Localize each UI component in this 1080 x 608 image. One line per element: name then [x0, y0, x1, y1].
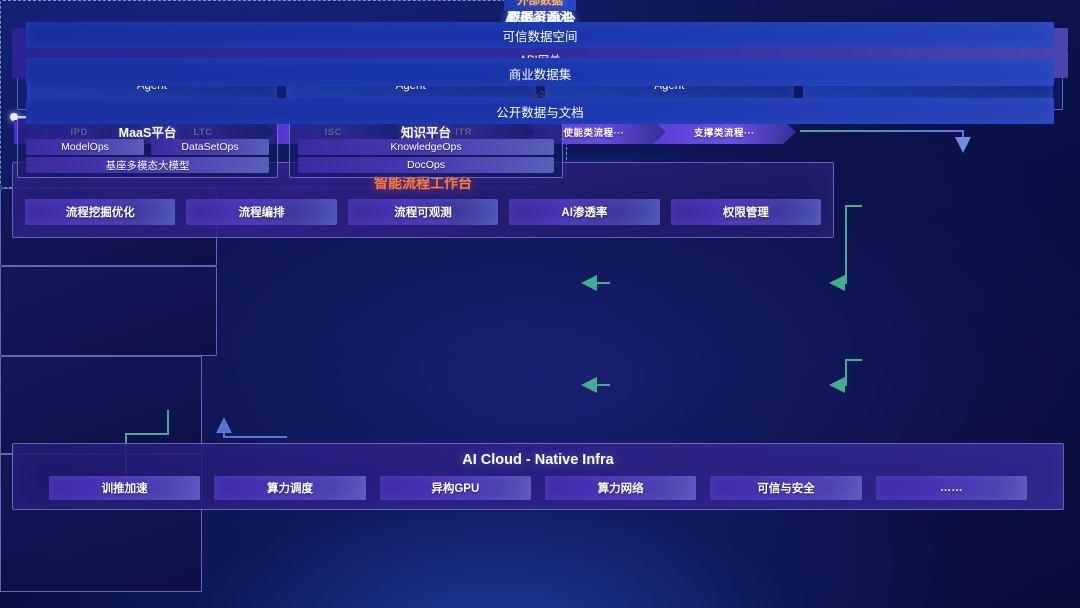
infra-item-row: 训推加速算力调度异构GPU算力网络可信与安全…… [49, 476, 1027, 500]
panel-knowledge-platform: 知识平台 KnowledgeOps DocOps [289, 118, 563, 178]
knowledge-item-r2-1[interactable]: DocOps [298, 157, 554, 173]
infra-item-6[interactable]: …… [876, 476, 1027, 500]
maas-row-2: 基座多模态大模型 [26, 157, 269, 173]
panel-ai-cloud-native-infra: AI Cloud - Native Infra 训推加速算力调度异构GPU算力网… [12, 443, 1064, 510]
external-item-public-docs[interactable]: 公开数据与文档 [26, 98, 1054, 124]
connector-process-to-legacy [800, 131, 963, 150]
infra-title: AI Cloud - Native Infra [13, 452, 1063, 468]
panel-data-resource-pool: 数据资源池 指标平台 数据资产平台 [0, 266, 217, 356]
workbench-item-5[interactable]: 权限管理 [671, 199, 821, 225]
knowledge-item-r1-1[interactable]: KnowledgeOps [298, 139, 554, 155]
infra-item-5[interactable]: 可信与安全 [710, 476, 861, 500]
external-item-commercial-dataset[interactable]: 商业数据集 [26, 60, 1054, 86]
infra-item-4[interactable]: 算力网络 [545, 476, 696, 500]
slide-canvas: AI for Process框架——AI原生的企业数智化技术参考架构 神州数码 … [0, 0, 1080, 608]
maas-row-1: ModelOpsDataSetOps [26, 139, 269, 155]
workbench-item-4[interactable]: AI渗透率 [509, 199, 659, 225]
external-title: 外部数据 [504, 0, 576, 11]
knowledge-row-2: DocOps [298, 157, 554, 173]
panel-maas-platform: MaaS平台 ModelOpsDataSetOps 基座多模态大模型 [17, 118, 278, 178]
workbench-item-3[interactable]: 流程可观测 [348, 199, 498, 225]
maas-item-r1-1[interactable]: ModelOps [26, 139, 144, 155]
knowledge-row-1: KnowledgeOps [298, 139, 554, 155]
maas-item-r2-1[interactable]: 基座多模态大模型 [26, 157, 269, 173]
connector-external-to-datapool [832, 360, 862, 385]
infra-item-3[interactable]: 异构GPU [380, 476, 531, 500]
infra-item-2[interactable]: 算力调度 [214, 476, 365, 500]
connector-infra-to-agent [224, 420, 287, 437]
maas-item-r1-2[interactable]: DataSetOps [151, 139, 269, 155]
panel-legacy-applications: 传统应用 ERP/CRM/OA … … [0, 356, 202, 454]
connector-legacy-to-servicepool [832, 206, 862, 283]
workbench-item-1[interactable]: 流程挖掘优化 [25, 199, 175, 225]
workbench-item-2[interactable]: 流程编排 [186, 199, 336, 225]
infra-item-1[interactable]: 训推加速 [49, 476, 200, 500]
workbench-item-row: 流程挖掘优化流程编排流程可观测AI渗透率权限管理 [25, 199, 821, 225]
external-item-trusted-space[interactable]: 可信数据空间 [26, 22, 1054, 48]
